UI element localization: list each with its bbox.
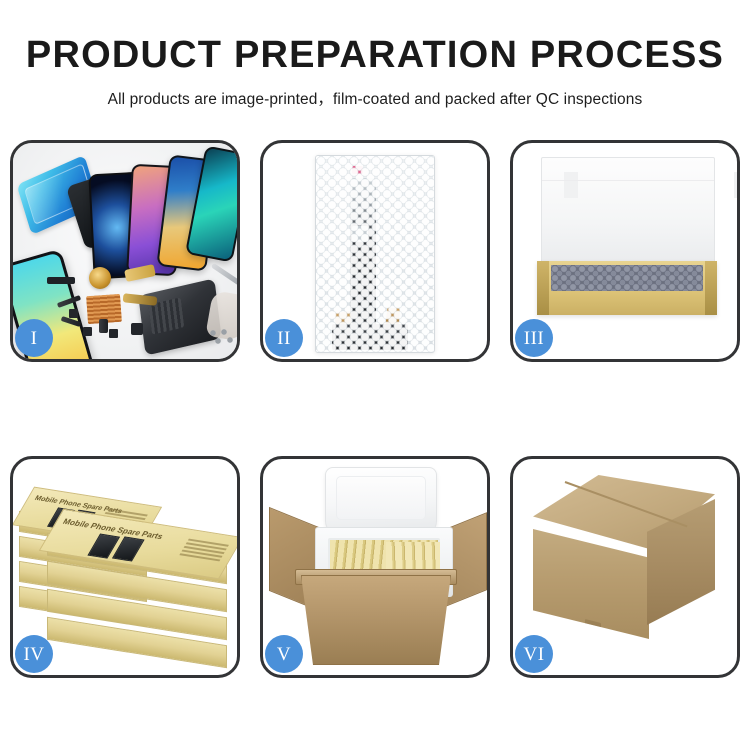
camera-module-icon	[99, 319, 108, 333]
carton-tab-upper	[585, 619, 601, 645]
speaker-module-icon	[47, 277, 75, 284]
process-step-1[interactable]: I	[10, 140, 240, 362]
kraft-tray-icon	[537, 261, 717, 315]
lid-tab-left	[564, 172, 578, 198]
process-step-3[interactable]: III	[510, 140, 740, 362]
process-step-5[interactable]: V	[260, 456, 490, 678]
process-step-4[interactable]: Mobile Phone Spare Parts Mobile Phone Sp…	[10, 456, 240, 678]
step-badge-1: I	[15, 319, 53, 357]
process-step-2[interactable]: II	[260, 140, 490, 362]
step-badge-6: VI	[515, 635, 553, 673]
bubble-wrapped-contents-icon	[551, 265, 703, 291]
bubble-wrap-package	[315, 155, 435, 353]
step-badge-4: IV	[15, 635, 53, 673]
tray-lip-left	[537, 261, 549, 315]
page-title: PRODUCT PREPARATION PROCESS	[0, 0, 750, 76]
white-box-lid-icon	[541, 157, 715, 277]
process-step-grid: I II	[10, 140, 740, 685]
step-badge-3: III	[515, 319, 553, 357]
shipping-carton-front	[533, 529, 649, 639]
chip-icon-1	[69, 309, 78, 318]
chip-icon-2	[83, 327, 92, 336]
screws-icon	[209, 329, 235, 345]
product-preparation-infographic: PRODUCT PREPARATION PROCESS All products…	[0, 0, 750, 750]
process-step-6[interactable]: VI	[510, 456, 740, 678]
header: PRODUCT PREPARATION PROCESS All products…	[0, 0, 750, 109]
step-badge-5: V	[265, 635, 303, 673]
tray-lip-right	[705, 261, 717, 315]
bubble-texture	[316, 156, 434, 352]
foam-lid-icon	[325, 467, 437, 535]
page-subtitle: All products are image-printed，film-coat…	[0, 76, 750, 109]
spec-lines-front	[178, 539, 229, 564]
chip-icon-4	[131, 323, 143, 335]
lid-tab-right	[734, 172, 737, 198]
carton-body	[301, 575, 451, 665]
wireless-charging-coil-icon	[89, 267, 111, 289]
step-badge-2: II	[265, 319, 303, 357]
box-stack: Mobile Phone Spare Parts Mobile Phone Sp…	[17, 473, 233, 669]
chip-icon-3	[109, 329, 118, 338]
